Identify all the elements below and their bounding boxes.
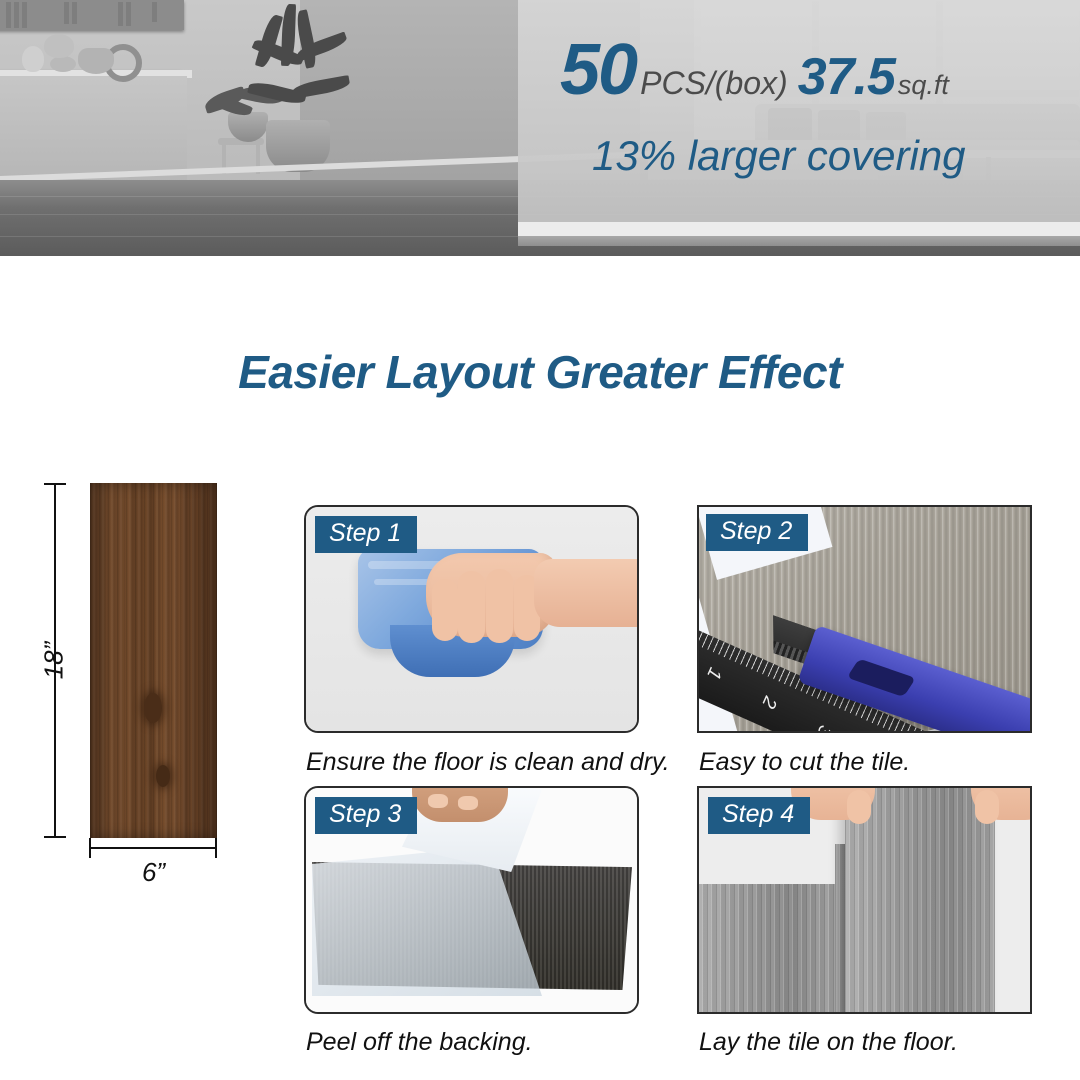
step-badge-2: Step 2 xyxy=(706,514,808,551)
step-panel-4: Step 4 xyxy=(697,786,1032,1014)
hand xyxy=(412,786,508,822)
fingernail xyxy=(428,794,448,808)
area-value: 37.5 xyxy=(798,51,895,103)
shelf-book xyxy=(152,2,157,22)
laid-plank xyxy=(697,884,837,1014)
width-dimension-cap-right xyxy=(215,838,217,858)
vase xyxy=(22,46,44,72)
width-dimension-cap-left xyxy=(89,838,91,858)
step-caption-2: Easy to cut the tile. xyxy=(699,748,910,777)
wood-knot xyxy=(144,693,162,723)
bowl xyxy=(50,56,76,72)
ruler-number: 2 xyxy=(756,693,780,712)
shelf-book xyxy=(6,2,11,28)
step-badge-1: Step 1 xyxy=(315,516,417,553)
basket xyxy=(78,48,114,74)
hero-banner: 50 PCS/(box) 37.5 sq.ft 13% larger cover… xyxy=(0,0,1080,256)
ruler-number: 1 xyxy=(701,664,725,683)
height-dimension-cap-bottom xyxy=(44,836,66,838)
step-panel-1: Step 1 xyxy=(304,505,639,733)
step-caption-1: Ensure the floor is clean and dry. xyxy=(306,748,670,777)
plank-dimension-diagram: 18” 6” xyxy=(20,455,280,875)
forearm xyxy=(534,559,639,627)
thumb xyxy=(975,790,999,824)
plant-pot-small xyxy=(44,34,74,58)
quantity-value: 50 xyxy=(560,34,636,106)
step-panel-3: Step 3 xyxy=(304,786,639,1014)
hero-panel-shadow xyxy=(518,236,1080,246)
step-caption-3: Peel off the backing. xyxy=(306,1028,533,1057)
height-dimension-label: 18” xyxy=(39,621,70,701)
wood-plank-sample xyxy=(90,483,217,838)
height-dimension-cap-top xyxy=(44,483,66,485)
finger xyxy=(486,569,513,643)
step-badge-3: Step 3 xyxy=(315,797,417,834)
finger xyxy=(432,579,458,641)
width-dimension-line xyxy=(90,847,217,849)
spec-line: 50 PCS/(box) 37.5 sq.ft xyxy=(560,34,1070,114)
area-unit: sq.ft xyxy=(898,70,949,101)
finger xyxy=(458,571,485,643)
wood-knot xyxy=(156,765,170,787)
hero-tagline: 13% larger covering xyxy=(592,132,1062,180)
page-title: Easier Layout Greater Effect xyxy=(0,345,1080,399)
fingernail xyxy=(458,796,478,810)
step-caption-4: Lay the tile on the floor. xyxy=(699,1028,958,1057)
shelf-book xyxy=(64,2,69,24)
ruler-number: 3 xyxy=(811,722,835,733)
quantity-unit: PCS/(box) xyxy=(640,65,788,102)
shelf-book xyxy=(118,2,123,26)
shelf-book xyxy=(22,2,27,28)
step-badge-4: Step 4 xyxy=(708,797,810,834)
shelf-book xyxy=(126,2,131,26)
hero-panel-edge xyxy=(518,222,1080,236)
shelf-book xyxy=(72,2,77,24)
hand xyxy=(971,786,1032,820)
width-dimension-label: 6” xyxy=(90,857,217,888)
knife-slider-slot xyxy=(847,659,916,698)
shelf-book xyxy=(14,2,19,28)
thumb xyxy=(847,790,871,824)
